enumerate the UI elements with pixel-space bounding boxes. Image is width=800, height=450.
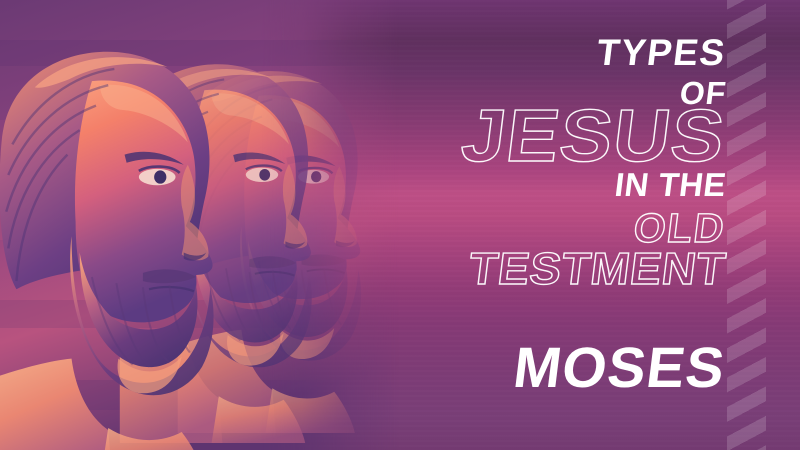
title-line-types: TYPES [595,33,729,73]
subject-name-moses: MOSES [510,338,728,398]
diagonal-stripe-band [727,0,766,450]
title-text-block: TYPES OF JESUS IN THE OLD TESTMENT MOSES [386,0,726,450]
thumbnail-banner: TYPES OF JESUS IN THE OLD TESTMENT MOSES [0,0,800,450]
title-line-jesus: JESUS [458,99,730,173]
title-line-testment: TESTMENT [466,245,728,293]
title-line-in-the: IN THE [613,167,729,203]
jesus-portrait-artwork [0,0,420,450]
